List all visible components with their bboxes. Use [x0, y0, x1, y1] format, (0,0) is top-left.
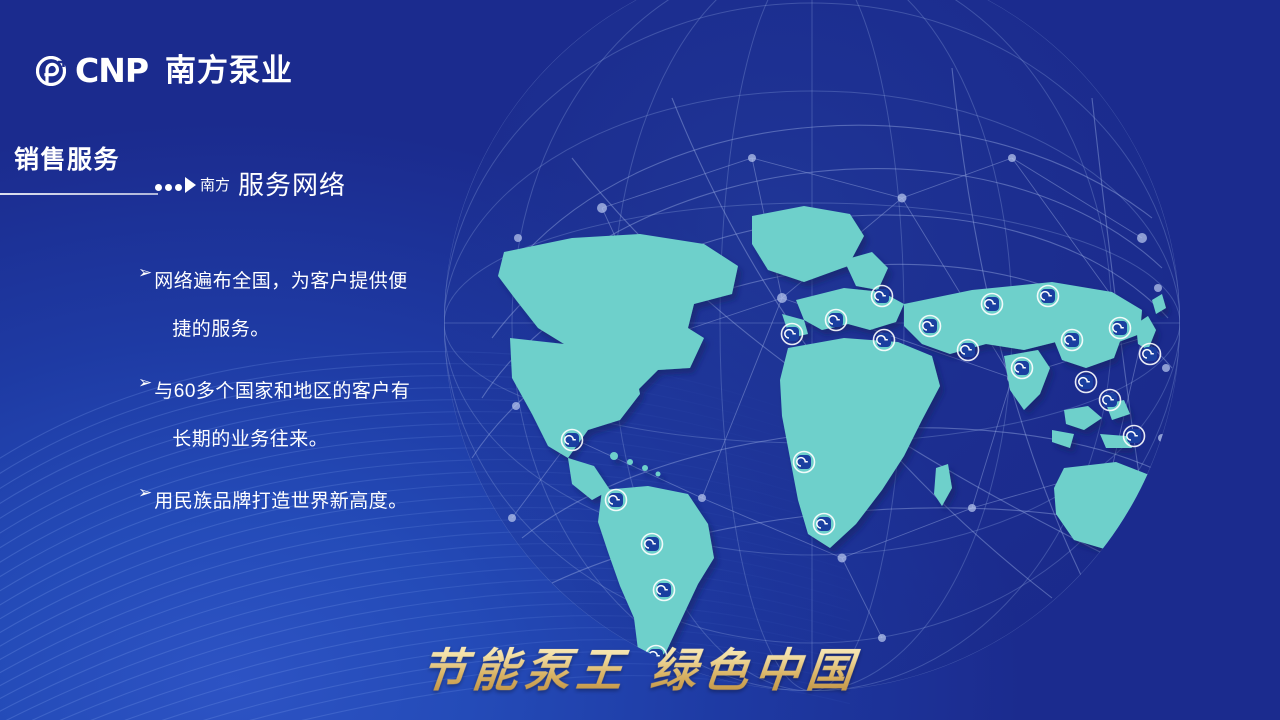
- bullet-list: ➢ 网络遍布全国，为客户提供便 捷的服务。 ➢ 与60多个国家和地区的客户有 长…: [138, 258, 468, 540]
- logo-latin-text: CNP: [75, 54, 148, 87]
- bullet-arrow-icon: ➢: [138, 258, 152, 288]
- subsection-title: 服务网络: [238, 172, 346, 198]
- list-item: ➢ 用民族品牌打造世界新高度。: [138, 478, 468, 526]
- brand-logo: CNP 南方泵业: [36, 54, 293, 87]
- bullet-arrow-icon: ➢: [138, 368, 152, 398]
- bullet-text: 网络遍布全国，为客户提供便 捷的服务。: [154, 258, 408, 354]
- bullet-arrow-icon: ➢: [138, 478, 152, 508]
- bullet-line-1: 与60多个国家和地区的客户有: [154, 381, 410, 402]
- subsection-prefix: 南方: [200, 174, 230, 198]
- bullet-line-1: 用民族品牌打造世界新高度。: [154, 491, 408, 512]
- gold-slogan: 节能泵王 绿色中国: [0, 634, 1280, 700]
- title-divider: [0, 193, 158, 195]
- logo-chinese-text: 南方泵业: [165, 55, 293, 86]
- slide-canvas: CNP 南方泵业 销售服务 南方 服务网络 ➢ 网络遍布全国，为客户提供便 捷的…: [0, 0, 1280, 720]
- bullet-text: 与60多个国家和地区的客户有 长期的业务往来。: [154, 368, 410, 464]
- world-map-globe: [452, 38, 1212, 638]
- page-title: 销售服务: [14, 140, 120, 176]
- bullet-line-2: 捷的服务。: [172, 306, 270, 354]
- dots-ornament-icon: [155, 184, 182, 198]
- triangle-arrow-icon: [185, 177, 196, 193]
- bullet-line-1: 网络遍布全国，为客户提供便: [154, 271, 408, 292]
- bullet-line-2: 长期的业务往来。: [172, 416, 328, 464]
- list-item: ➢ 网络遍布全国，为客户提供便 捷的服务。: [138, 258, 468, 354]
- subsection-header: 南方 服务网络: [155, 172, 346, 198]
- bullet-text: 用民族品牌打造世界新高度。: [154, 478, 408, 526]
- list-item: ➢ 与60多个国家和地区的客户有 长期的业务往来。: [138, 368, 468, 464]
- cnp-monogram-icon: [36, 56, 66, 86]
